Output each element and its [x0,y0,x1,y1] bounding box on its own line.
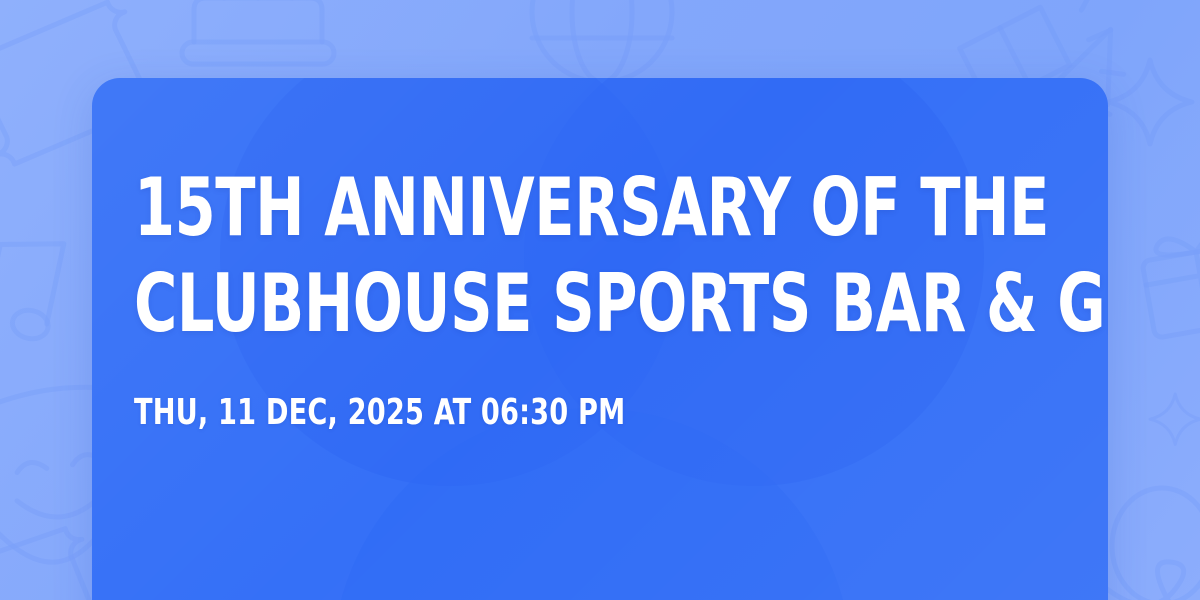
event-title: 15TH ANNIVERSARY OF THE CLUBHOUSE SPORTS… [134,160,898,352]
event-card-content: 15TH ANNIVERSARY OF THE CLUBHOUSE SPORTS… [134,78,1066,434]
gift-icon [1139,225,1200,338]
event-card: 15TH ANNIVERSARY OF THE CLUBHOUSE SPORTS… [92,78,1108,600]
cake-icon [182,0,334,64]
event-banner: 15TH ANNIVERSARY OF THE CLUBHOUSE SPORTS… [0,0,1200,600]
event-title-line-2: CLUBHOUSE SPORTS BAR & GRILL [134,256,898,352]
globe-icon [532,0,672,82]
sparkle-icon [1150,394,1200,444]
event-title-line-1: 15TH ANNIVERSARY OF THE [134,160,898,256]
event-datetime: THU, 11 DEC, 2025 AT 06:30 PM [134,392,917,434]
balloon-string-icon [1096,562,1200,600]
music-note-icon [0,224,66,358]
balloon-icon [1112,488,1200,600]
